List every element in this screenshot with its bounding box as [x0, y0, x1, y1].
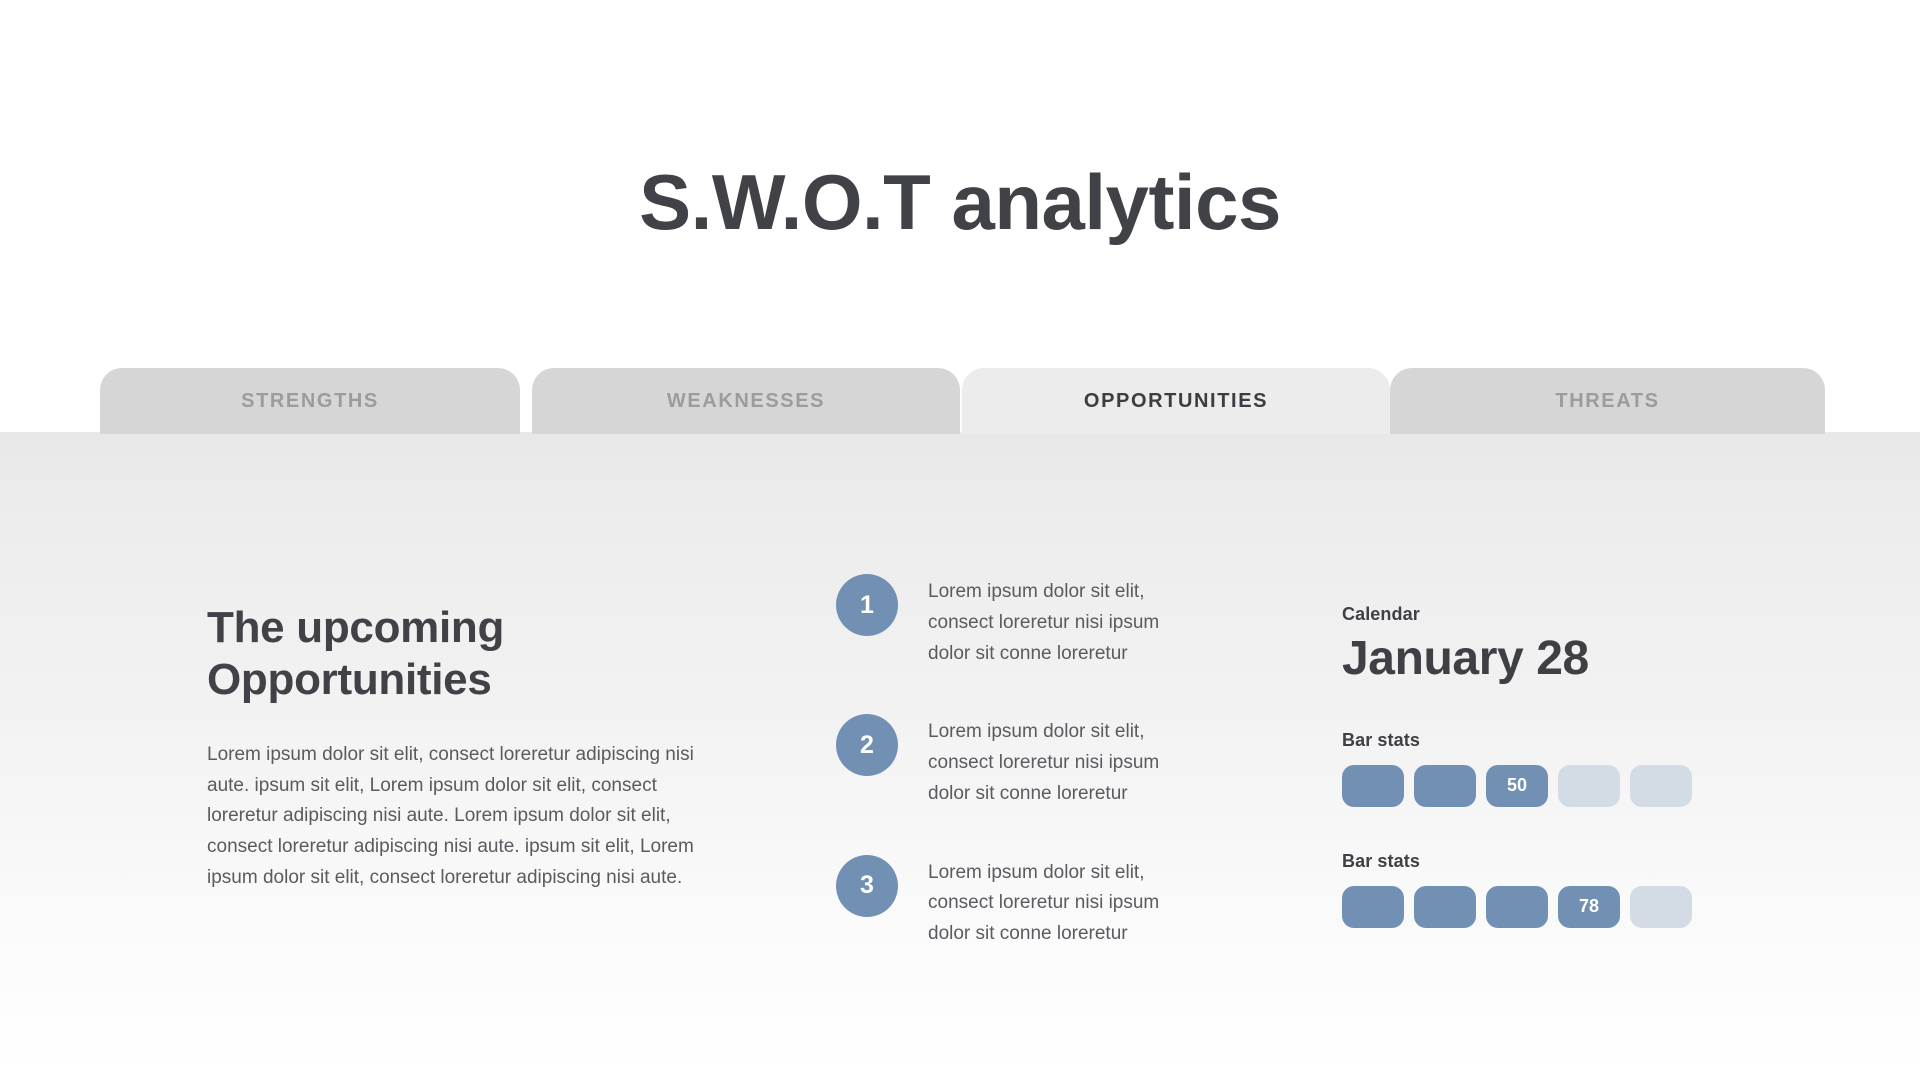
bar-track: 78 — [1342, 886, 1772, 928]
bar-segment-empty — [1630, 886, 1692, 928]
list-number-badge: 3 — [836, 855, 898, 917]
list-item-text: Lorem ipsum dolor sit elit, consect lore… — [928, 712, 1166, 809]
section-heading: The upcoming Opportunities — [207, 602, 607, 706]
page-title: S.W.O.T analytics — [0, 160, 1920, 246]
bar-segment-filled — [1414, 886, 1476, 928]
tab-threats[interactable]: THREATS — [1390, 368, 1825, 434]
bar-segment-filled — [1414, 765, 1476, 807]
calendar-date: January 28 — [1342, 633, 1772, 686]
bar-segment-empty — [1630, 765, 1692, 807]
numbered-list: 1 Lorem ipsum dolor sit elit, consect lo… — [836, 572, 1166, 950]
bar-stats-group-2: Bar stats 78 — [1342, 851, 1772, 928]
bar-stats-label: Bar stats — [1342, 730, 1772, 751]
bar-segment-empty — [1558, 765, 1620, 807]
list-item-text: Lorem ipsum dolor sit elit, consect lore… — [928, 853, 1166, 950]
bar-segment-filled — [1342, 886, 1404, 928]
tab-bar: STRENGTHS WEAKNESSES OPPORTUNITIES THREA… — [0, 368, 1920, 434]
list-number-badge: 1 — [836, 574, 898, 636]
bar-segment-filled — [1342, 765, 1404, 807]
bar-segment-filled: 78 — [1558, 886, 1620, 928]
tab-label: OPPORTUNITIES — [1084, 390, 1268, 413]
tab-label: STRENGTHS — [241, 390, 379, 413]
stats-column: Calendar January 28 Bar stats 50 Bar sta… — [1342, 604, 1772, 928]
list-item-text: Lorem ipsum dolor sit elit, consect lore… — [928, 572, 1166, 669]
tab-opportunities[interactable]: OPPORTUNITIES — [962, 368, 1390, 434]
list-number-badge: 2 — [836, 714, 898, 776]
bar-segment-filled: 50 — [1486, 765, 1548, 807]
slide-canvas: S.W.O.T analytics STRENGTHS WEAKNESSES O… — [0, 0, 1920, 1080]
tab-content-panel: The upcoming Opportunities Lorem ipsum d… — [0, 432, 1920, 1080]
list-item: 1 Lorem ipsum dolor sit elit, consect lo… — [836, 572, 1166, 669]
overview-column: The upcoming Opportunities Lorem ipsum d… — [207, 602, 707, 894]
tab-label: WEAKNESSES — [667, 390, 825, 413]
tab-strengths[interactable]: STRENGTHS — [100, 368, 520, 434]
tab-label: THREATS — [1555, 390, 1659, 413]
bar-segment-filled — [1486, 886, 1548, 928]
tab-weaknesses[interactable]: WEAKNESSES — [532, 368, 960, 434]
list-item: 3 Lorem ipsum dolor sit elit, consect lo… — [836, 853, 1166, 950]
bar-stats-label: Bar stats — [1342, 851, 1772, 872]
bar-stats-group-1: Bar stats 50 — [1342, 730, 1772, 807]
calendar-label: Calendar — [1342, 604, 1772, 625]
list-item: 2 Lorem ipsum dolor sit elit, consect lo… — [836, 712, 1166, 809]
bar-track: 50 — [1342, 765, 1772, 807]
section-paragraph: Lorem ipsum dolor sit elit, consect lore… — [207, 740, 699, 894]
calendar-block: Calendar January 28 — [1342, 604, 1772, 686]
